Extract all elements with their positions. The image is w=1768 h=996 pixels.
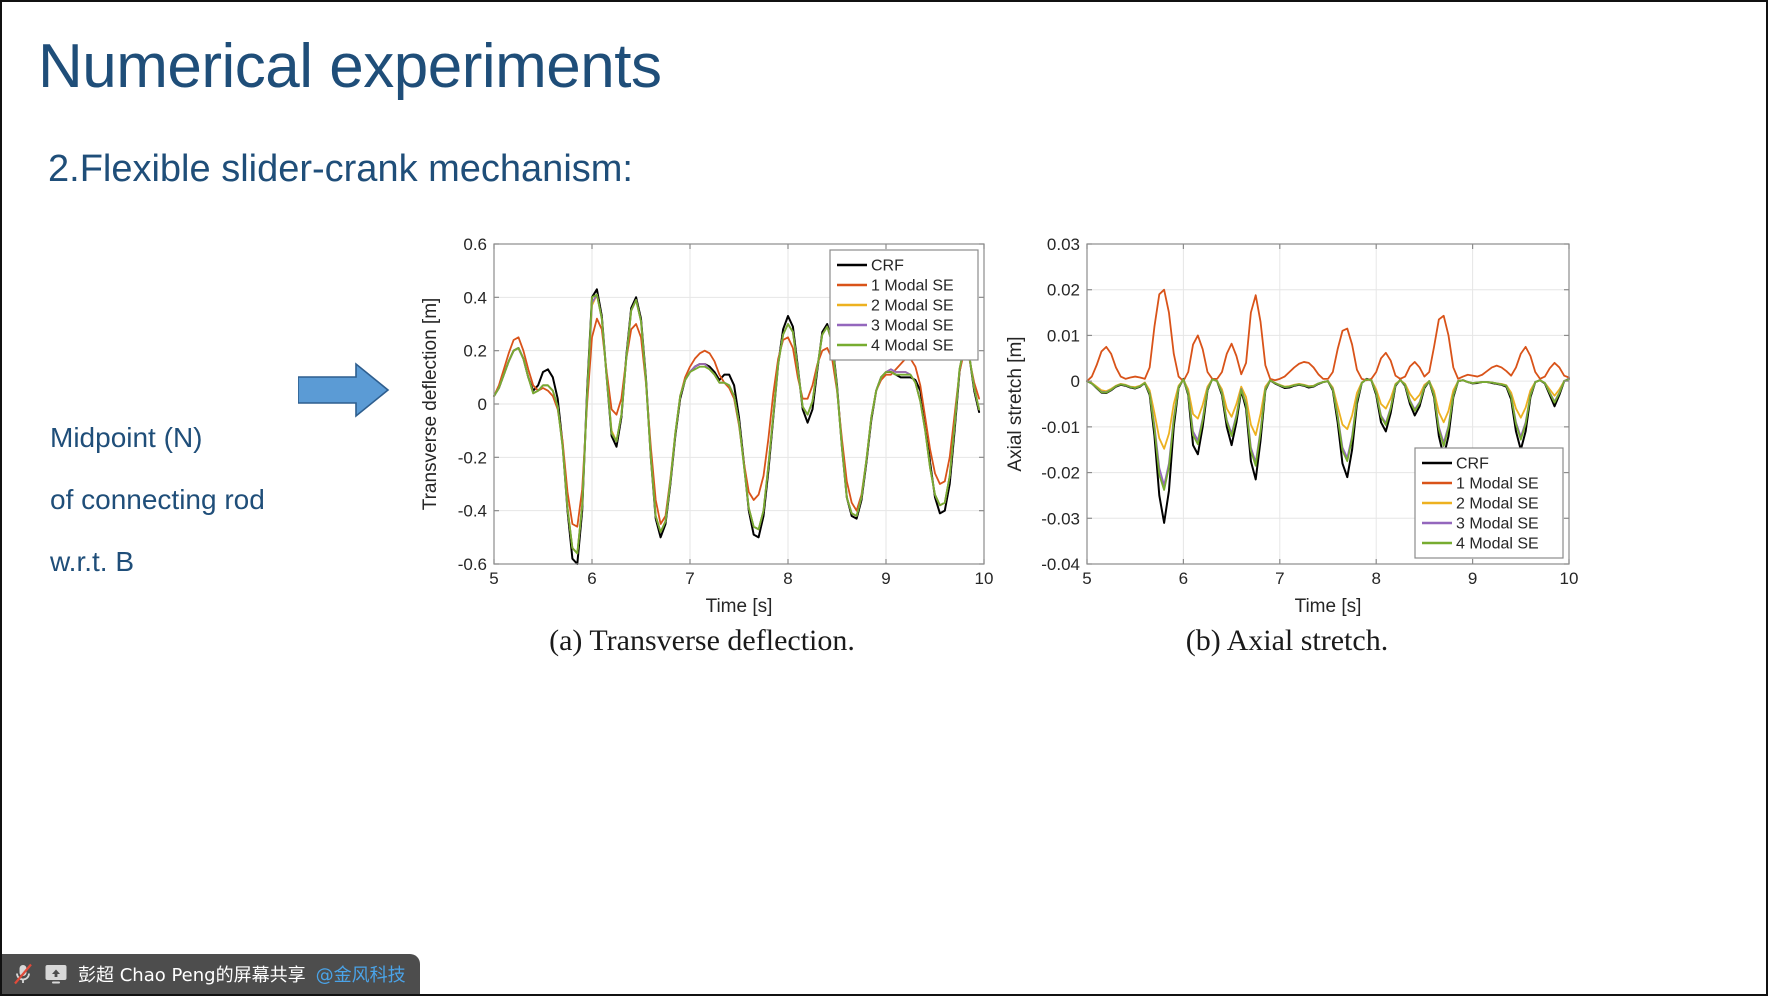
x-axis-label: Time [s]: [1295, 596, 1362, 617]
legend-label: 3 Modal SE: [1456, 516, 1539, 533]
chart-legend: CRF1 Modal SE2 Modal SE3 Modal SE4 Modal…: [1415, 448, 1563, 558]
x-tick-label: 7: [1275, 569, 1284, 588]
screen-share-taskbar[interactable]: 彭超 Chao Peng的屏幕共享 @金风科技: [2, 954, 420, 994]
annotation-text-block: Midpoint (N) of connecting rod w.r.t. B: [50, 407, 265, 593]
x-tick-label: 6: [587, 569, 596, 588]
x-tick-label: 10: [1560, 569, 1579, 588]
x-tick-label: 8: [783, 569, 792, 588]
page-title: Numerical experiments: [38, 36, 662, 98]
legend-label: 4 Modal SE: [1456, 536, 1539, 553]
chart-axial-stretch: 5678910-0.04-0.03-0.02-0.0100.010.020.03…: [987, 226, 1587, 626]
legend-label: CRF: [871, 258, 904, 275]
x-tick-label: 9: [1468, 569, 1477, 588]
y-tick-label: -0.6: [458, 555, 487, 574]
x-tick-label: 5: [489, 569, 498, 588]
x-tick-label: 6: [1179, 569, 1188, 588]
annotation-line-2: of connecting rod: [50, 469, 265, 531]
legend-label: 2 Modal SE: [871, 298, 954, 315]
y-tick-label: -0.2: [458, 448, 487, 467]
figure-caption-a: (a) Transverse deflection.: [402, 624, 1002, 658]
y-tick-label: 0: [1071, 372, 1080, 391]
y-tick-label: 0.01: [1047, 326, 1080, 345]
figure-axial-stretch: 5678910-0.04-0.03-0.02-0.0100.010.020.03…: [987, 226, 1587, 626]
y-tick-label: -0.04: [1041, 555, 1080, 574]
legend-label: 1 Modal SE: [1456, 476, 1539, 493]
presentation-slide: Numerical experiments 2.Flexible slider-…: [0, 0, 1768, 996]
y-tick-label: 0.4: [463, 288, 487, 307]
y-tick-label: 0: [478, 395, 487, 414]
legend-label: 3 Modal SE: [871, 318, 954, 335]
x-tick-label: 7: [685, 569, 694, 588]
x-tick-label: 5: [1082, 569, 1091, 588]
slide-subtitle: 2.Flexible slider-crank mechanism:: [48, 150, 633, 188]
screen-share-icon[interactable]: [44, 963, 68, 985]
right-arrow-shape: [298, 362, 390, 418]
legend-label: 1 Modal SE: [871, 278, 954, 295]
y-axis-label: Transverse deflection [m]: [420, 298, 441, 511]
legend-label: CRF: [1456, 456, 1489, 473]
y-tick-label: 0.03: [1047, 235, 1080, 254]
y-tick-label: -0.03: [1041, 509, 1080, 528]
annotation-line-1: Midpoint (N): [50, 407, 265, 469]
microphone-muted-icon[interactable]: [12, 962, 34, 986]
arrow-right-icon: [298, 362, 390, 418]
share-org-text: @金风科技: [316, 961, 406, 987]
figures-container: 5678910-0.6-0.4-0.200.20.40.6Time [s]Tra…: [402, 226, 1652, 676]
x-tick-label: 8: [1371, 569, 1380, 588]
y-tick-label: 0.6: [463, 235, 487, 254]
y-tick-label: -0.01: [1041, 418, 1080, 437]
y-tick-label: -0.02: [1041, 464, 1080, 483]
share-status-text: 彭超 Chao Peng的屏幕共享: [78, 961, 306, 987]
legend-label: 4 Modal SE: [871, 338, 954, 355]
y-tick-label: 0.2: [463, 342, 487, 361]
figure-caption-b: (b) Axial stretch.: [987, 624, 1587, 658]
y-tick-label: -0.4: [458, 502, 487, 521]
chart-transverse-deflection: 5678910-0.6-0.4-0.200.20.40.6Time [s]Tra…: [402, 226, 1002, 626]
y-tick-label: 0.02: [1047, 281, 1080, 300]
y-axis-label: Axial stretch [m]: [1005, 336, 1026, 471]
figure-transverse-deflection: 5678910-0.6-0.4-0.200.20.40.6Time [s]Tra…: [402, 226, 1002, 626]
x-tick-label: 9: [881, 569, 890, 588]
chart-legend: CRF1 Modal SE2 Modal SE3 Modal SE4 Modal…: [830, 250, 978, 360]
legend-label: 2 Modal SE: [1456, 496, 1539, 513]
annotation-line-3: w.r.t. B: [50, 531, 265, 593]
x-axis-label: Time [s]: [706, 596, 773, 617]
